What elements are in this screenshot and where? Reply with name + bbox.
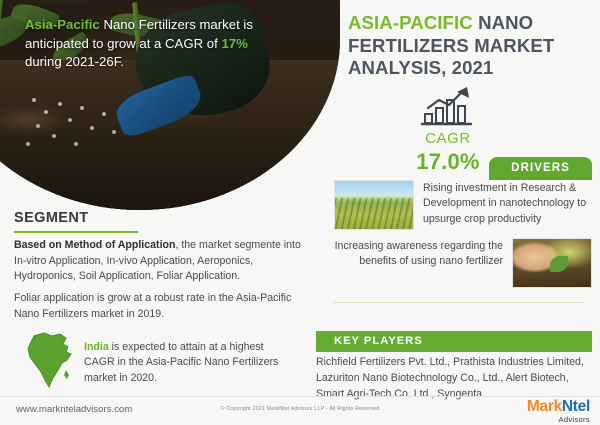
- logo-wordmark: MarkNtel: [527, 399, 590, 415]
- driver-item-text: Rising investment in Research & Developm…: [423, 180, 592, 227]
- segment-lead-bold: Based on Method of Application: [14, 239, 175, 251]
- driver-item: Increasing awareness regarding the benef…: [334, 238, 592, 288]
- logo-part-ntel: Ntel: [562, 398, 590, 415]
- hand-seedling-photo: [512, 238, 592, 288]
- cagr-label: CAGR: [348, 130, 548, 147]
- hero-region-highlight: Asia-Pacific: [25, 17, 100, 32]
- page-title: ASIA-PACIFIC NANO FERTILIZERS MARKET ANA…: [348, 12, 592, 80]
- india-text: is expected to attain at a highest CAGR …: [84, 341, 278, 384]
- bar-chart-growth-arrow-icon: [419, 84, 477, 128]
- hero-text-part2: during 2021-26F.: [25, 54, 124, 69]
- india-callout: India is expected to attain at a highest…: [84, 340, 284, 386]
- infographic-page: Asia-Pacific Nano Fertilizers market is …: [0, 0, 600, 425]
- company-logo: MarkNtel Advisors: [527, 399, 590, 423]
- logo-tagline: Advisors: [527, 416, 590, 424]
- drivers-divider: [334, 302, 584, 303]
- driver-item: Rising investment in Research & Developm…: [334, 180, 592, 230]
- footer-copyright: © Copyright 2021 MarkNtel Advisors LLP -…: [0, 406, 600, 412]
- key-players-bar: KEY PLAYERS: [316, 331, 592, 352]
- page-title-accent: ASIA-PACIFIC: [348, 12, 473, 33]
- hero-cagr-highlight: 17%: [221, 36, 247, 51]
- footer-divider: [0, 396, 600, 397]
- logo-part-mark: Mark: [527, 398, 562, 415]
- drivers-tab: DRIVERS: [489, 157, 592, 180]
- segment-paragraph-2: Foliar application is grow at a robust r…: [14, 291, 304, 322]
- segment-paragraph-1: Based on Method of Application, the mark…: [14, 238, 304, 285]
- hero-headline: Asia-Pacific Nano Fertilizers market is …: [25, 16, 271, 72]
- segment-heading: SEGMENT: [14, 210, 89, 226]
- segment-body: Based on Method of Application, the mark…: [14, 238, 304, 328]
- driver-item-text: Increasing awareness regarding the benef…: [334, 238, 503, 270]
- india-map-icon: [22, 330, 78, 392]
- drivers-list: Rising investment in Research & Developm…: [334, 180, 592, 296]
- crop-field-photo: [334, 180, 414, 230]
- india-highlight: India: [84, 341, 109, 353]
- segment-underline: [14, 231, 138, 233]
